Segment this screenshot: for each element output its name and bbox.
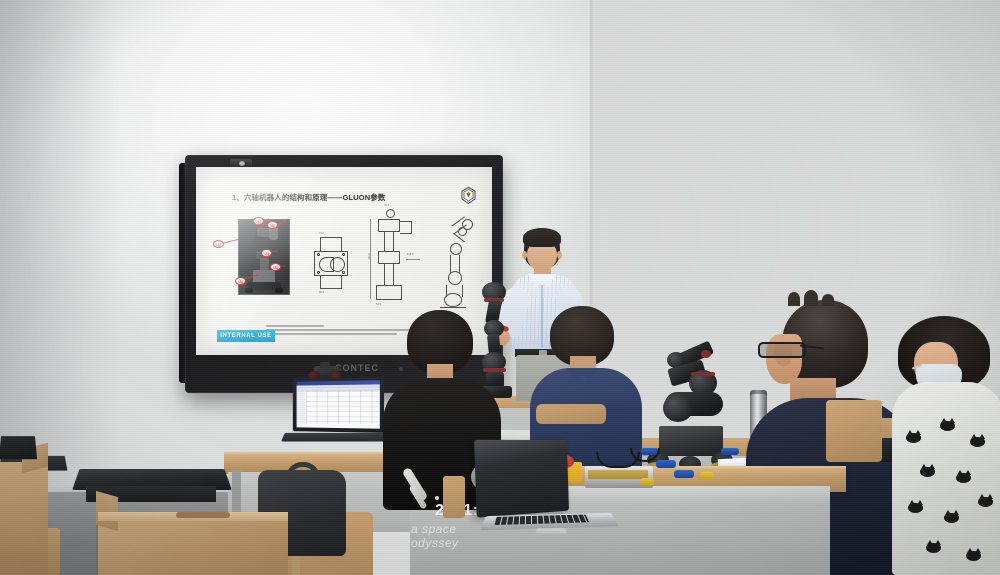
callout-line: [222, 239, 240, 244]
laptop-display-content: [297, 380, 380, 428]
slide-title: 1、六轴机器人的结构和原理——GLUON参数: [232, 192, 385, 203]
tshirt-dot-graphic: [435, 496, 439, 500]
suction-handle-right[interactable]: [721, 448, 739, 455]
spreadsheet-row-headers: [297, 391, 305, 423]
webcam-lens-icon: [239, 161, 245, 166]
cat-print-icon: [978, 494, 993, 507]
attendee-far-right: [898, 316, 1000, 575]
spreadsheet-grid: [306, 391, 378, 425]
presenter-ear-left: [522, 251, 527, 259]
presenter-ear-right: [557, 251, 562, 259]
cad-front-view: 76.0 38.0: [308, 233, 354, 295]
robot2-base-block: [659, 426, 723, 456]
dark-equipment-left: [0, 436, 37, 459]
blue-connector: [674, 470, 694, 478]
silver-laptop-trackpad[interactable]: [536, 528, 567, 533]
silver-laptop-screen[interactable]: [474, 440, 569, 518]
callout-6: 6轴: [235, 277, 246, 285]
robot2-red-accent: [701, 350, 711, 358]
hair-tuft: [804, 290, 818, 306]
classroom-scene: 1、六轴机器人的结构和原理——GLUON参数: [0, 0, 1000, 575]
cat-print-icon: [966, 548, 981, 561]
robot2-shoulder-joint: [663, 394, 693, 422]
callout-2: 2轴: [253, 217, 264, 225]
callout-4: 4轴: [261, 249, 272, 257]
cat-print-icon: [906, 430, 921, 443]
cat-print-icon: [908, 500, 923, 513]
cad-side-view: 240.0 76.0 118.0 62.5: [366, 207, 422, 315]
presenter-hair: [523, 228, 561, 247]
cat-print-icon: [926, 540, 941, 553]
box-handle-cutout: [176, 512, 230, 518]
internal-use-badge: INTERNAL USE: [217, 330, 275, 342]
cardboard-box-flap: [96, 491, 118, 531]
robot2-red-accent-2: [691, 372, 715, 376]
attendee-far-right-shirt: [892, 382, 1000, 575]
chair-armrest: [443, 476, 465, 518]
hair-tuft: [788, 292, 800, 306]
cat-print-icon: [970, 434, 985, 447]
wooden-chair-center-back[interactable]: [536, 404, 606, 424]
callout-1: 1轴: [213, 240, 224, 248]
company-shield-logo-icon: [461, 187, 476, 204]
cat-print-icon: [944, 510, 959, 523]
cardboard-box-far-left: [0, 462, 48, 575]
silver-laptop[interactable]: [470, 440, 620, 536]
laptop-screen[interactable]: [293, 377, 384, 433]
glasses-icon: [758, 342, 806, 358]
yellow-connector: [640, 478, 654, 485]
cat-print-icon: [920, 464, 935, 477]
yellow-connector: [700, 472, 714, 479]
callout-5: 5轴: [270, 263, 281, 271]
cardboard-box-center: [98, 518, 288, 575]
slide-robot-photo: [238, 219, 290, 295]
laptop-keyboard-base[interactable]: [281, 433, 391, 442]
laptop-with-spreadsheet[interactable]: [283, 378, 389, 450]
hair-tuft: [822, 294, 834, 306]
blue-connector: [656, 460, 676, 468]
callout-3: 3轴: [267, 221, 278, 229]
cat-print-icon: [940, 418, 955, 431]
wooden-chair-right[interactable]: [826, 400, 882, 462]
cat-print-icon: [956, 470, 971, 483]
